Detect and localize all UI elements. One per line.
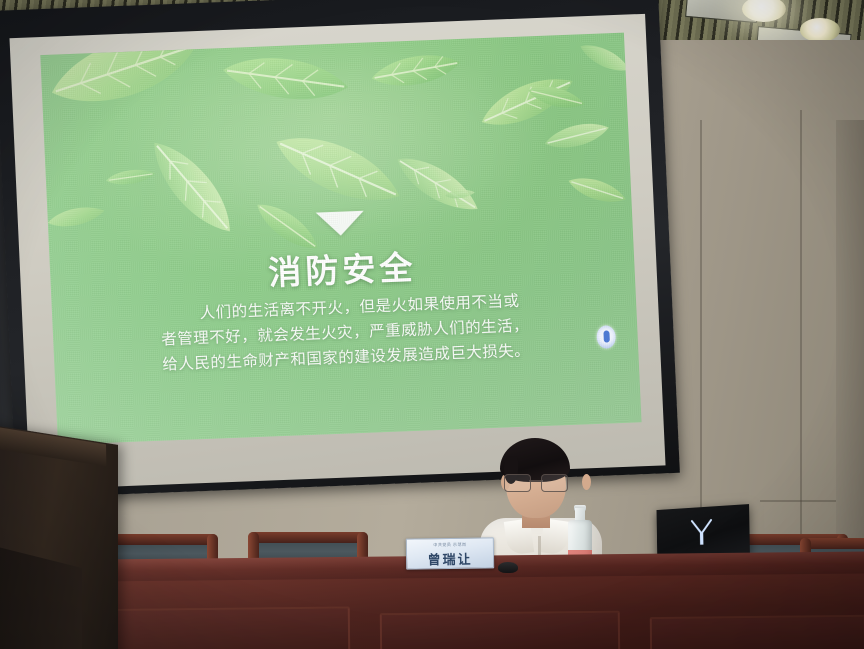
desk-panel-2 — [380, 611, 620, 649]
wall-seam-1 — [700, 120, 702, 540]
legion-y-logo-icon — [690, 518, 714, 546]
glasses-icon — [504, 474, 568, 490]
desk-panel-3 — [650, 615, 864, 649]
slide-body-text: 人们的生活离不开火，但是火如果使用不当或 者管理不好，就会发生火灾，严重威胁人们… — [92, 286, 599, 380]
chair-frame-top — [248, 532, 368, 543]
ear-right — [582, 474, 591, 490]
glasses-lens-right — [541, 474, 568, 492]
lecture-hall-photo: 消防安全 人们的生活离不开火，但是火如果使用不当或 者管理不好，就会发生火灾，严… — [0, 0, 864, 649]
glasses-lens-left — [504, 474, 531, 492]
wall-seam-2 — [800, 110, 802, 540]
triangle-down-icon — [316, 211, 365, 237]
downlight-1 — [800, 18, 840, 42]
nameplate-name: 曾瑞让 — [407, 548, 493, 568]
projection-screen: 消防安全 人们的生活离不开火，但是火如果使用不当或 者管理不好，就会发生火灾，严… — [3, 0, 672, 490]
round-logo-watermark-icon — [596, 325, 616, 349]
nameplate: 中共党员 示范岗 曾瑞让 — [406, 537, 494, 569]
presentation-slide: 消防安全 人们的生活离不开火，但是火如果使用不当或 者管理不好，就会发生火灾，严… — [40, 33, 641, 445]
nameplate-subtitle: 中共党员 示范岗 — [407, 541, 493, 548]
desk-microphone — [498, 562, 518, 573]
wall-right-column — [836, 120, 864, 540]
